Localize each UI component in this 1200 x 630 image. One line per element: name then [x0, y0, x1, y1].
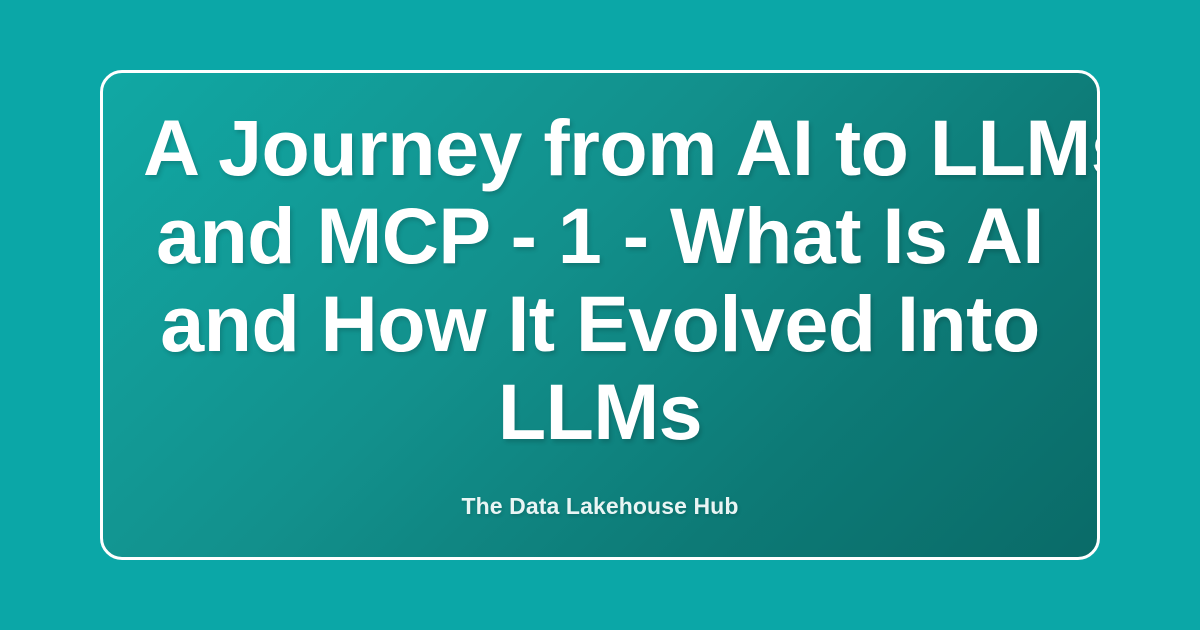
- site-name-subtitle: The Data Lakehouse Hub: [462, 492, 739, 520]
- page-title: A Journey from AI to LLMs and MCP - 1 - …: [143, 104, 1057, 456]
- title-line-4: LLMs: [143, 368, 1057, 456]
- title-line-1: A Journey from AI to LLMs: [143, 104, 1057, 192]
- og-image-canvas: A Journey from AI to LLMs and MCP - 1 - …: [0, 0, 1200, 630]
- bordered-content-card: A Journey from AI to LLMs and MCP - 1 - …: [100, 70, 1100, 560]
- title-line-3: and How It Evolved Into: [143, 280, 1057, 368]
- title-line-2: and MCP - 1 - What Is AI: [143, 192, 1057, 280]
